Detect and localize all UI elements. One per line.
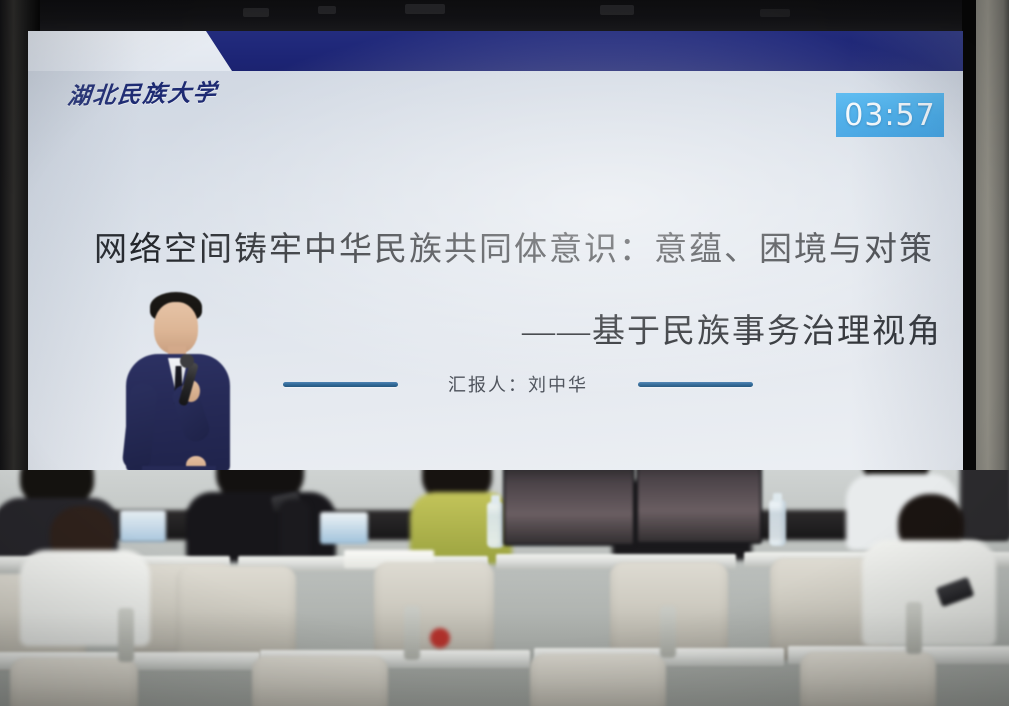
ceiling-fixture xyxy=(760,9,790,17)
ceiling-dark-area xyxy=(0,0,1009,34)
ceiling-fixture xyxy=(243,8,269,17)
person-torso xyxy=(862,540,996,646)
laptop-screen xyxy=(503,470,635,546)
countdown-timer-value: 03:57 xyxy=(844,98,935,133)
red-object xyxy=(430,628,450,648)
chair xyxy=(530,654,666,706)
tissue-box xyxy=(320,512,368,544)
person-arm xyxy=(280,500,310,562)
chair xyxy=(10,658,138,706)
person-torso xyxy=(186,492,336,562)
decorative-line-right xyxy=(638,382,753,387)
presenter-byline: 汇报人：刘中华 xyxy=(448,371,588,397)
decorative-line-left xyxy=(283,382,398,387)
chair-arm xyxy=(118,608,134,662)
countdown-timer-badge: 03:57 xyxy=(836,93,944,137)
laptop xyxy=(636,470,762,544)
ceiling-fixture xyxy=(318,6,336,14)
chair-arm xyxy=(906,602,922,654)
laptop xyxy=(503,470,635,546)
water-bottle xyxy=(769,500,786,546)
audience-area xyxy=(0,470,1009,706)
audience-person xyxy=(866,494,992,634)
chair-arm xyxy=(660,606,676,658)
chair xyxy=(800,652,936,706)
university-logo: 湖北民族大学 xyxy=(66,73,220,111)
ceiling-fixture xyxy=(405,4,445,14)
chair-arm xyxy=(404,606,420,660)
presenter-byline-row: 汇报人：刘中华 xyxy=(283,371,753,397)
water-bottle xyxy=(487,502,504,548)
ceiling-fixture xyxy=(600,5,634,15)
chair xyxy=(252,656,388,706)
laptop-screen xyxy=(636,470,762,544)
chair xyxy=(374,562,494,662)
audience-person xyxy=(186,470,336,556)
slide-title: 网络空间铸牢中华民族共同体意识：意蕴、困境与对策 xyxy=(94,230,944,271)
microphone-head xyxy=(180,354,194,368)
audience-arm xyxy=(280,500,310,562)
screenshot-stage: 湖北民族大学 03:57 网络空间铸牢中华民族共同体意识：意蕴、困境与对策 ——… xyxy=(0,0,1009,706)
